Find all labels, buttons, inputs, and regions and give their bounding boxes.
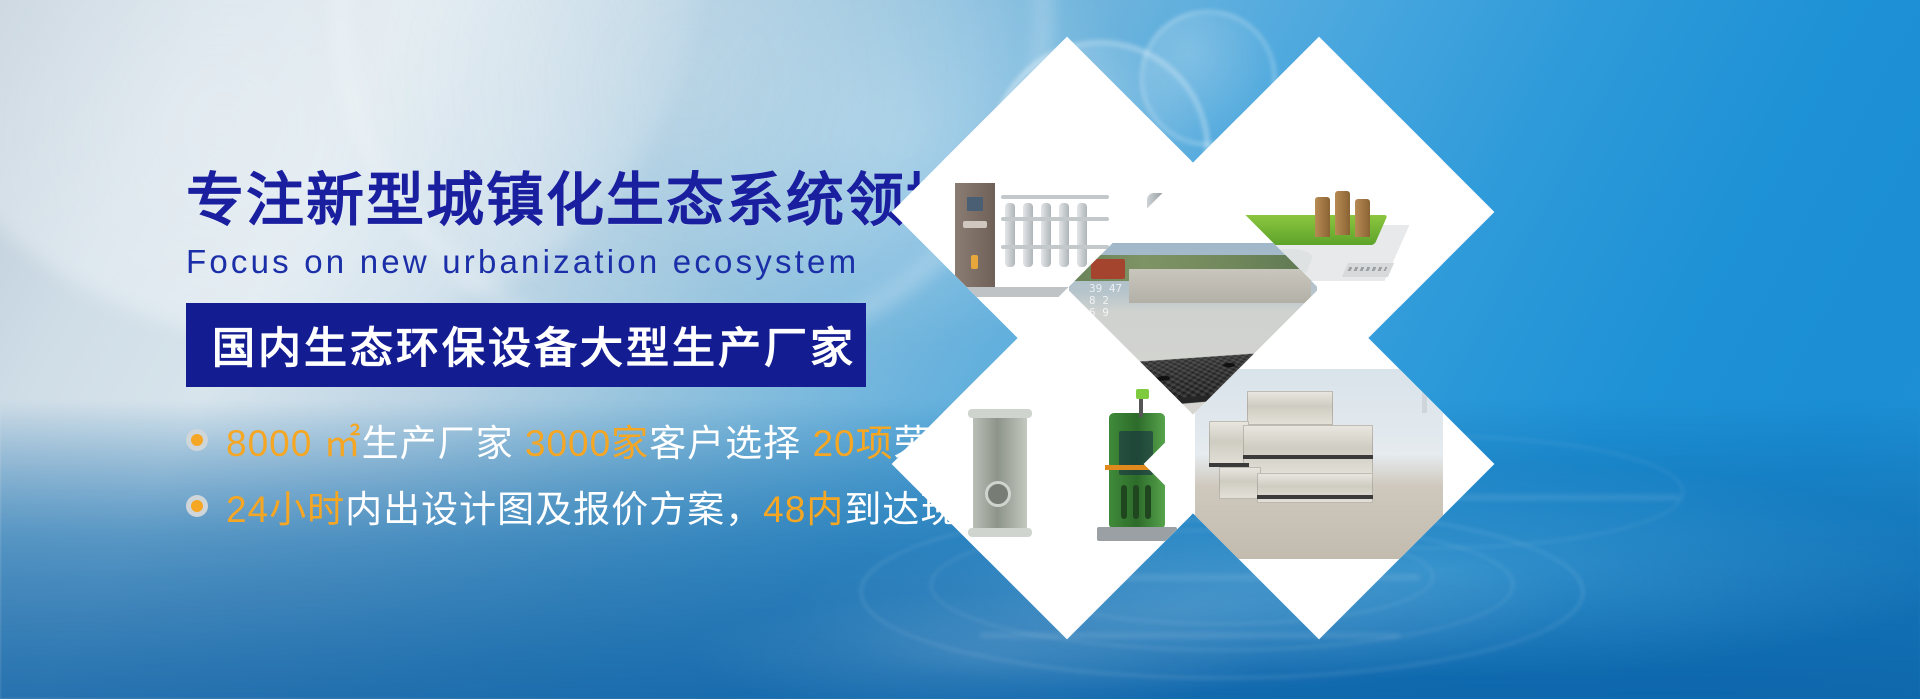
feature-accent: 48内 [763, 489, 844, 530]
list-item: 24小时内出设计图及报价方案，48内到达现场 [186, 479, 906, 533]
feature-accent: 8000 ㎡ [226, 423, 362, 464]
feature-line-2: 24小时内出设计图及报价方案，48内到达现场 [226, 479, 996, 533]
bullet-dot-icon [186, 429, 208, 451]
feature-list: 8000 ㎡生产厂家 3000家客户选择 20项荣誉证书 24小时内出设计图及报… [186, 413, 906, 533]
feature-accent: 20项 [812, 423, 893, 464]
page-subtitle: Focus on new urbanization ecosystem [186, 243, 906, 281]
hero-text-block: 专注新型城镇化生态系统领域 Focus on new urbanization … [186, 170, 906, 545]
highlight-bar-label: 国内生态环保设备大型生产厂家 [186, 314, 856, 376]
feature-accent: 24小时 [226, 489, 345, 530]
bullet-dot-icon [186, 495, 208, 517]
list-item: 8000 ㎡生产厂家 3000家客户选择 20项荣誉证书 [186, 413, 906, 467]
product-diamond-gallery: 39 478 26 9 [905, 46, 1905, 646]
hero-banner: 专注新型城镇化生态系统领域 Focus on new urbanization … [0, 0, 1920, 699]
site-overlay-text: 39 478 26 9 [1089, 283, 1122, 319]
feature-text: 生产厂家 [362, 423, 525, 464]
feature-text: 客户选择 [649, 423, 812, 464]
feature-text: 内出设计图及报价方案， [345, 489, 763, 530]
aac-wall-panels-image [1195, 369, 1443, 559]
highlight-bar: 国内生态环保设备大型生产厂家 [186, 303, 866, 387]
page-title: 专注新型城镇化生态系统领域 [186, 170, 906, 233]
feature-accent: 3000家 [525, 423, 649, 464]
